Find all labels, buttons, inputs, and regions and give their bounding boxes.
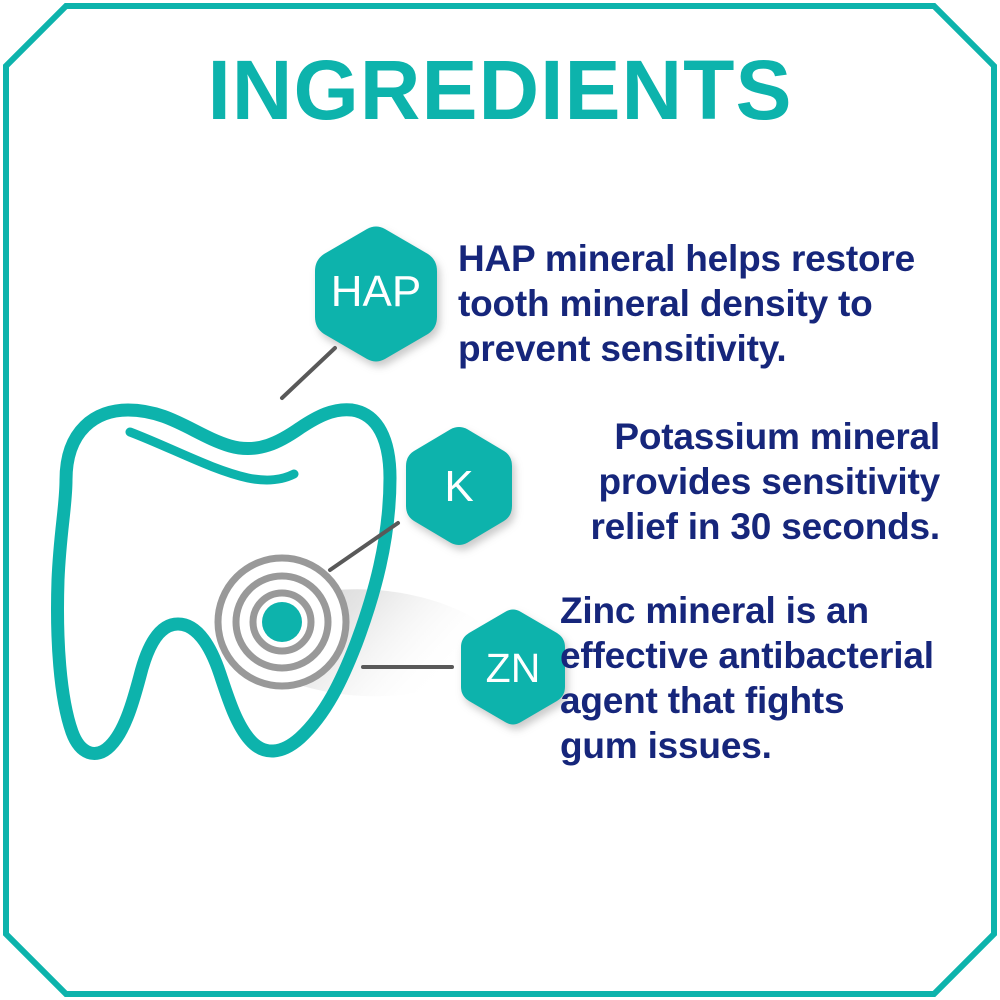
description-hap: HAP mineral helps restore tooth mineral …: [458, 236, 978, 371]
description-line: Potassium mineral: [520, 414, 940, 459]
connector-line-hap: [282, 348, 335, 398]
target-center-dot: [262, 602, 302, 642]
badge-label-zn: ZN: [486, 645, 541, 691]
description-line: tooth mineral density to: [458, 281, 978, 326]
description-line: gum issues.: [560, 723, 970, 768]
description-line: HAP mineral helps restore: [458, 236, 978, 281]
badge-label-k: K: [444, 462, 473, 511]
description-line: Zinc mineral is an: [560, 588, 970, 633]
description-zn: Zinc mineral is an effective antibacteri…: [560, 588, 970, 769]
description-line: agent that fights: [560, 678, 970, 723]
ingredients-infographic: INGREDIENTS: [0, 0, 1000, 1000]
badge-hap[interactable]: HAP: [315, 227, 437, 362]
tooth-outline: [58, 410, 390, 754]
description-line: relief in 30 seconds.: [520, 504, 940, 549]
badge-k[interactable]: K: [406, 427, 512, 545]
description-line: effective antibacterial: [560, 633, 970, 678]
description-line: provides sensitivity: [520, 459, 940, 504]
description-line: prevent sensitivity.: [458, 326, 978, 371]
badge-label-hap: HAP: [331, 267, 421, 316]
sensitivity-target-marker: [218, 558, 346, 686]
description-k: Potassium mineral provides sensitivity r…: [520, 414, 940, 549]
